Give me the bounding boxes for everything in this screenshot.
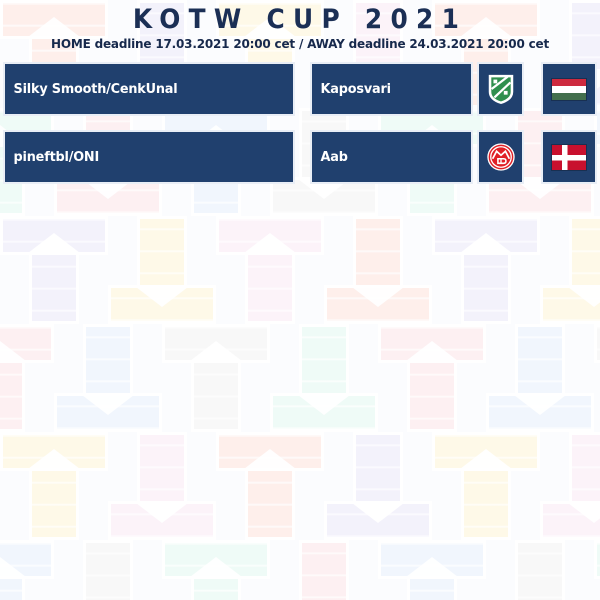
away-flag-tile (541, 62, 597, 116)
pattern-tile (216, 216, 324, 324)
home-team-panel[interactable]: Silky Smooth/CenkUnal (3, 62, 295, 116)
page-title: KOTW CUP 2021 (24, 6, 576, 34)
pattern-tile (0, 216, 108, 324)
match-row: Silky Smooth/CenkUnal Kaposvari (0, 62, 600, 116)
fixture-graphic: KOTW CUP 2021 HOME deadline 17.03.2021 2… (0, 0, 600, 600)
away-team-name: Kaposvari (312, 81, 391, 97)
pattern-tile (162, 540, 270, 600)
home-team-name: Silky Smooth/CenkUnal (5, 81, 177, 97)
fixture-list: Silky Smooth/CenkUnal Kaposvari (0, 62, 600, 198)
pattern-tile (216, 432, 324, 540)
pattern-tile (324, 216, 432, 324)
deadline-subtitle: HOME deadline 17.03.2021 20:00 cet / AWA… (12, 36, 588, 51)
away-flag-tile (541, 130, 597, 184)
pattern-tile (594, 324, 600, 432)
away-team-panel[interactable]: Aab (310, 130, 473, 184)
pattern-tile (0, 540, 54, 600)
pattern-tile (486, 324, 594, 432)
away-team-name: Aab (312, 149, 348, 165)
home-team-name: pineftbl/ONI (5, 149, 99, 165)
header: KOTW CUP 2021 HOME deadline 17.03.2021 2… (0, 0, 600, 51)
away-team-panel[interactable]: Kaposvari (310, 62, 473, 116)
pattern-tile (540, 216, 600, 324)
denmark-flag-icon (551, 144, 587, 171)
pattern-tile (108, 216, 216, 324)
kaposvari-crest-icon (486, 73, 516, 105)
pattern-tile (486, 540, 594, 600)
pattern-tile (54, 540, 162, 600)
pattern-tile (378, 324, 486, 432)
away-crest-tile (477, 130, 524, 184)
pattern-tile (108, 432, 216, 540)
pattern-tile (432, 216, 540, 324)
pattern-tile (162, 324, 270, 432)
pattern-tile (540, 432, 600, 540)
pattern-tile (378, 540, 486, 600)
home-team-panel[interactable]: pineftbl/ONI (3, 130, 295, 184)
pattern-tile (0, 324, 54, 432)
pattern-tile (54, 324, 162, 432)
pattern-tile (594, 540, 600, 600)
match-row: pineftbl/ONI Aab (0, 130, 600, 184)
hungary-flag-icon (551, 78, 587, 101)
pattern-tile (270, 324, 378, 432)
away-crest-tile (477, 62, 524, 116)
pattern-tile (0, 432, 108, 540)
aab-crest-icon (486, 141, 516, 173)
pattern-tile (432, 432, 540, 540)
pattern-tile (270, 540, 378, 600)
pattern-tile (324, 432, 432, 540)
